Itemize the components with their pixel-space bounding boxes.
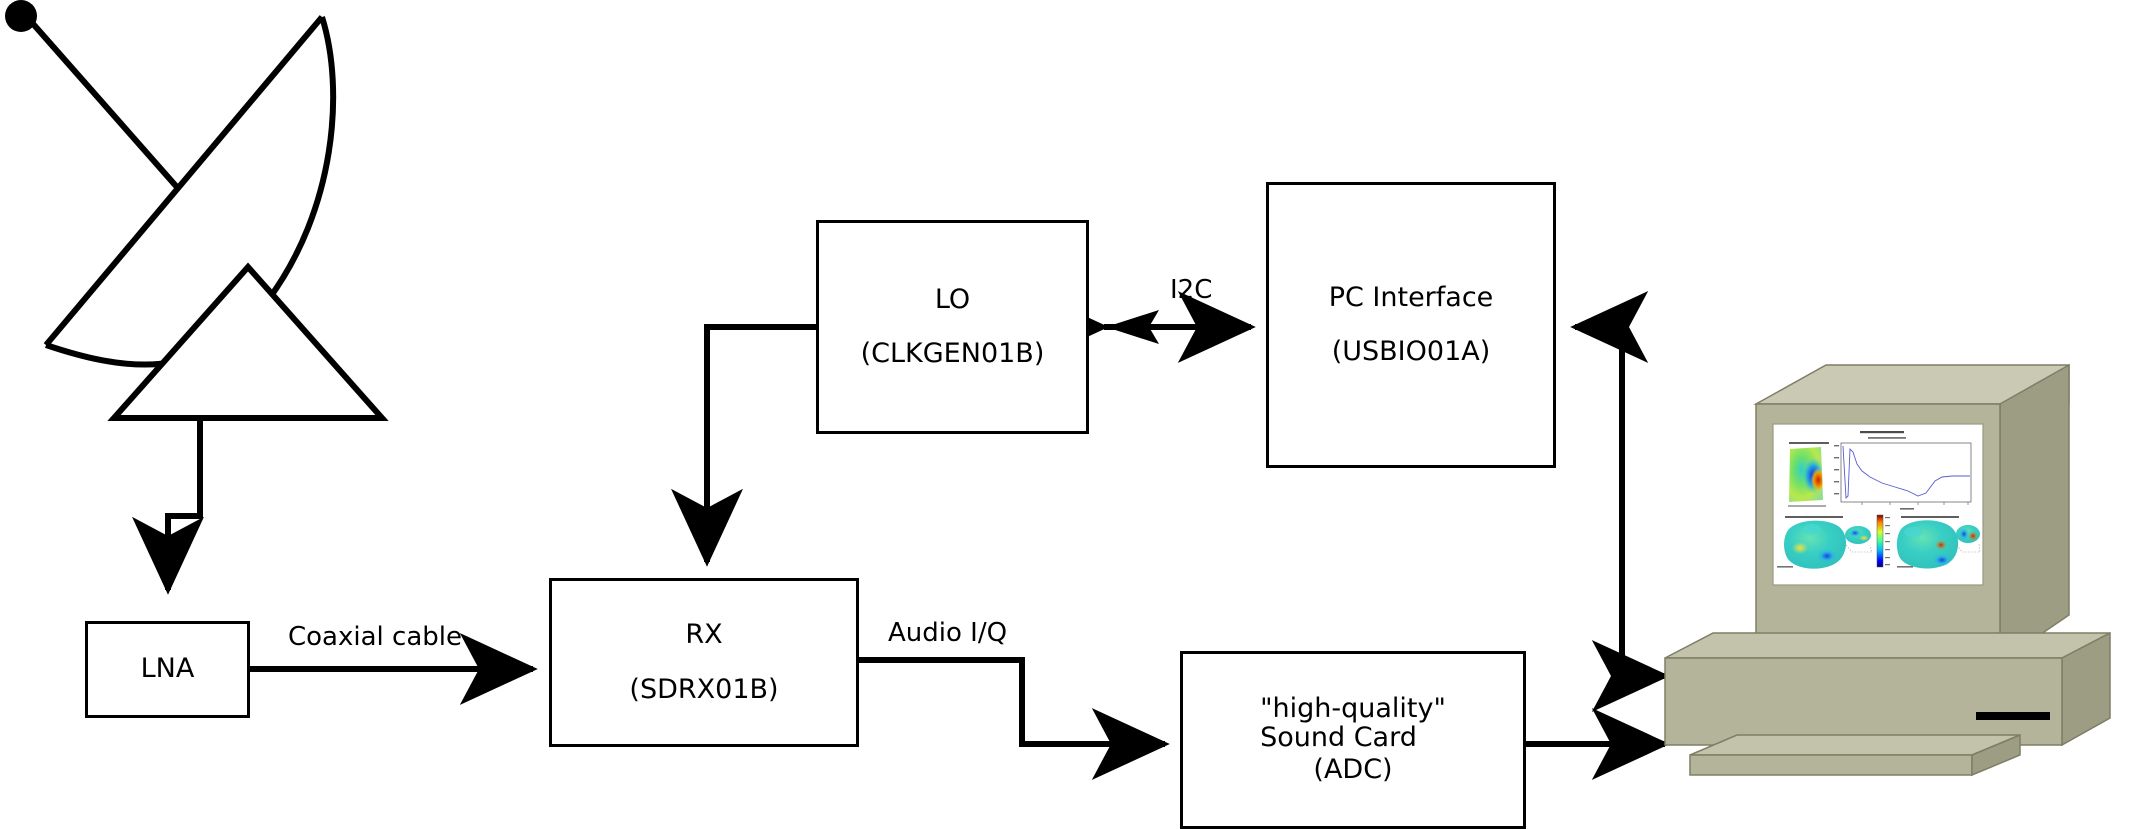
block-pc-interface-line2: (USBIO01A) xyxy=(1332,338,1491,366)
desktop-computer-icon xyxy=(1665,365,2110,775)
block-pc-interface-line1: PC Interface xyxy=(1329,284,1494,312)
edge-label-coaxial-cable: Coaxial cable xyxy=(288,622,462,652)
block-lna-line1: LNA xyxy=(141,655,195,683)
computer-to-pcif-connector xyxy=(1575,327,1665,676)
edge-label-i2c: I2C xyxy=(1170,275,1212,305)
block-rx-line1: RX xyxy=(685,621,722,649)
dish-to-lna-connector xyxy=(168,418,200,590)
block-lna[interactable]: LNA xyxy=(85,621,250,718)
rx-to-soundcard-connector xyxy=(859,660,1165,744)
edge-label-audio-iq: Audio I/Q xyxy=(888,618,1007,648)
block-lo[interactable]: LO (CLKGEN01B) xyxy=(816,220,1089,434)
block-sound-card[interactable]: "high-quality" Sound Card (ADC) xyxy=(1180,651,1526,829)
block-rx[interactable]: RX (SDRX01B) xyxy=(549,578,859,747)
diagram-canvas: LNA RX (SDRX01B) LO (CLKGEN01B) PC Inter… xyxy=(0,0,2137,829)
block-pc-interface[interactable]: PC Interface (USBIO01A) xyxy=(1266,182,1556,468)
block-sound-card-line1: "high-quality" Sound Card xyxy=(1260,695,1446,752)
block-lo-line1: LO xyxy=(935,286,970,314)
block-lo-line2: (CLKGEN01B) xyxy=(861,340,1045,368)
satellite-dish-icon xyxy=(5,0,382,418)
block-rx-line2: (SDRX01B) xyxy=(629,676,778,704)
block-sound-card-line2: (ADC) xyxy=(1313,756,1392,784)
lo-to-rx-connector xyxy=(707,327,816,562)
